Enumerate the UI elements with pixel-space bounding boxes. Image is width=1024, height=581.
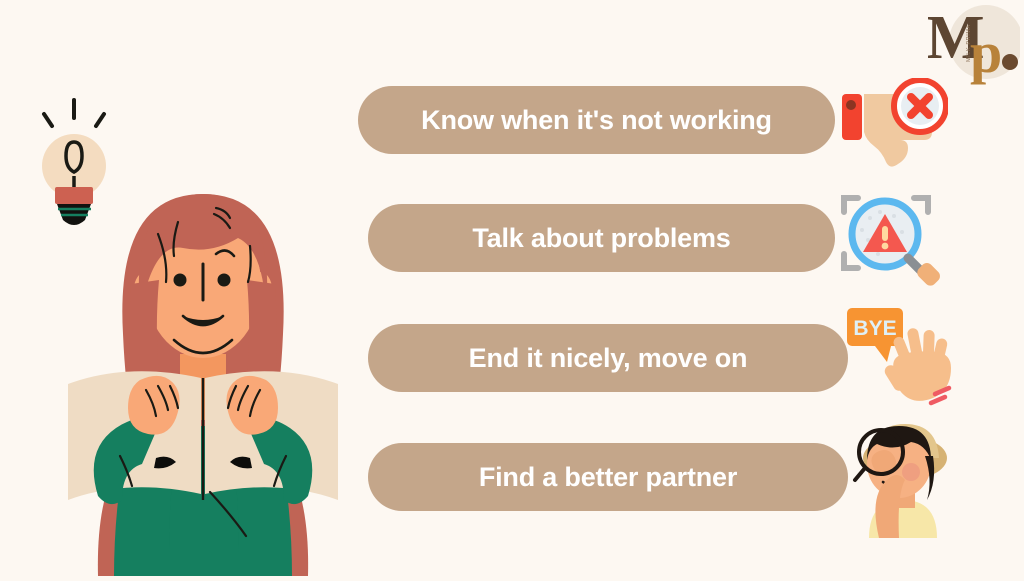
tip-label: Know when it's not working — [421, 105, 772, 136]
waving-hand-bye-icon: BYE — [845, 302, 957, 414]
tip-pill-know-when-not-working[interactable]: Know when it's not working — [358, 86, 835, 154]
tip-pill-end-it-nicely[interactable]: End it nicely, move on — [368, 324, 848, 392]
tip-pill-find-better-partner[interactable]: Find a better partner — [368, 443, 848, 511]
person-searching-icon — [845, 412, 959, 538]
tip-label: Find a better partner — [479, 462, 737, 493]
bye-bubble-text: BYE — [853, 317, 896, 340]
magnifier-warning-icon — [838, 188, 948, 292]
tip-list: Know when it's not working Talk about pr… — [0, 0, 1024, 576]
list-item[interactable]: Find a better partner — [368, 443, 848, 511]
tip-label: Talk about problems — [472, 223, 730, 254]
infographic-canvas: M p MILK PRIMA — [0, 0, 1024, 576]
tip-label: End it nicely, move on — [469, 343, 748, 374]
list-item[interactable]: End it nicely, move on — [368, 324, 848, 392]
list-item[interactable]: Talk about problems — [368, 204, 835, 272]
list-item[interactable]: Know when it's not working — [358, 86, 835, 154]
thumbs-down-x-icon — [838, 78, 948, 170]
tip-pill-talk-about-problems[interactable]: Talk about problems — [368, 204, 835, 272]
